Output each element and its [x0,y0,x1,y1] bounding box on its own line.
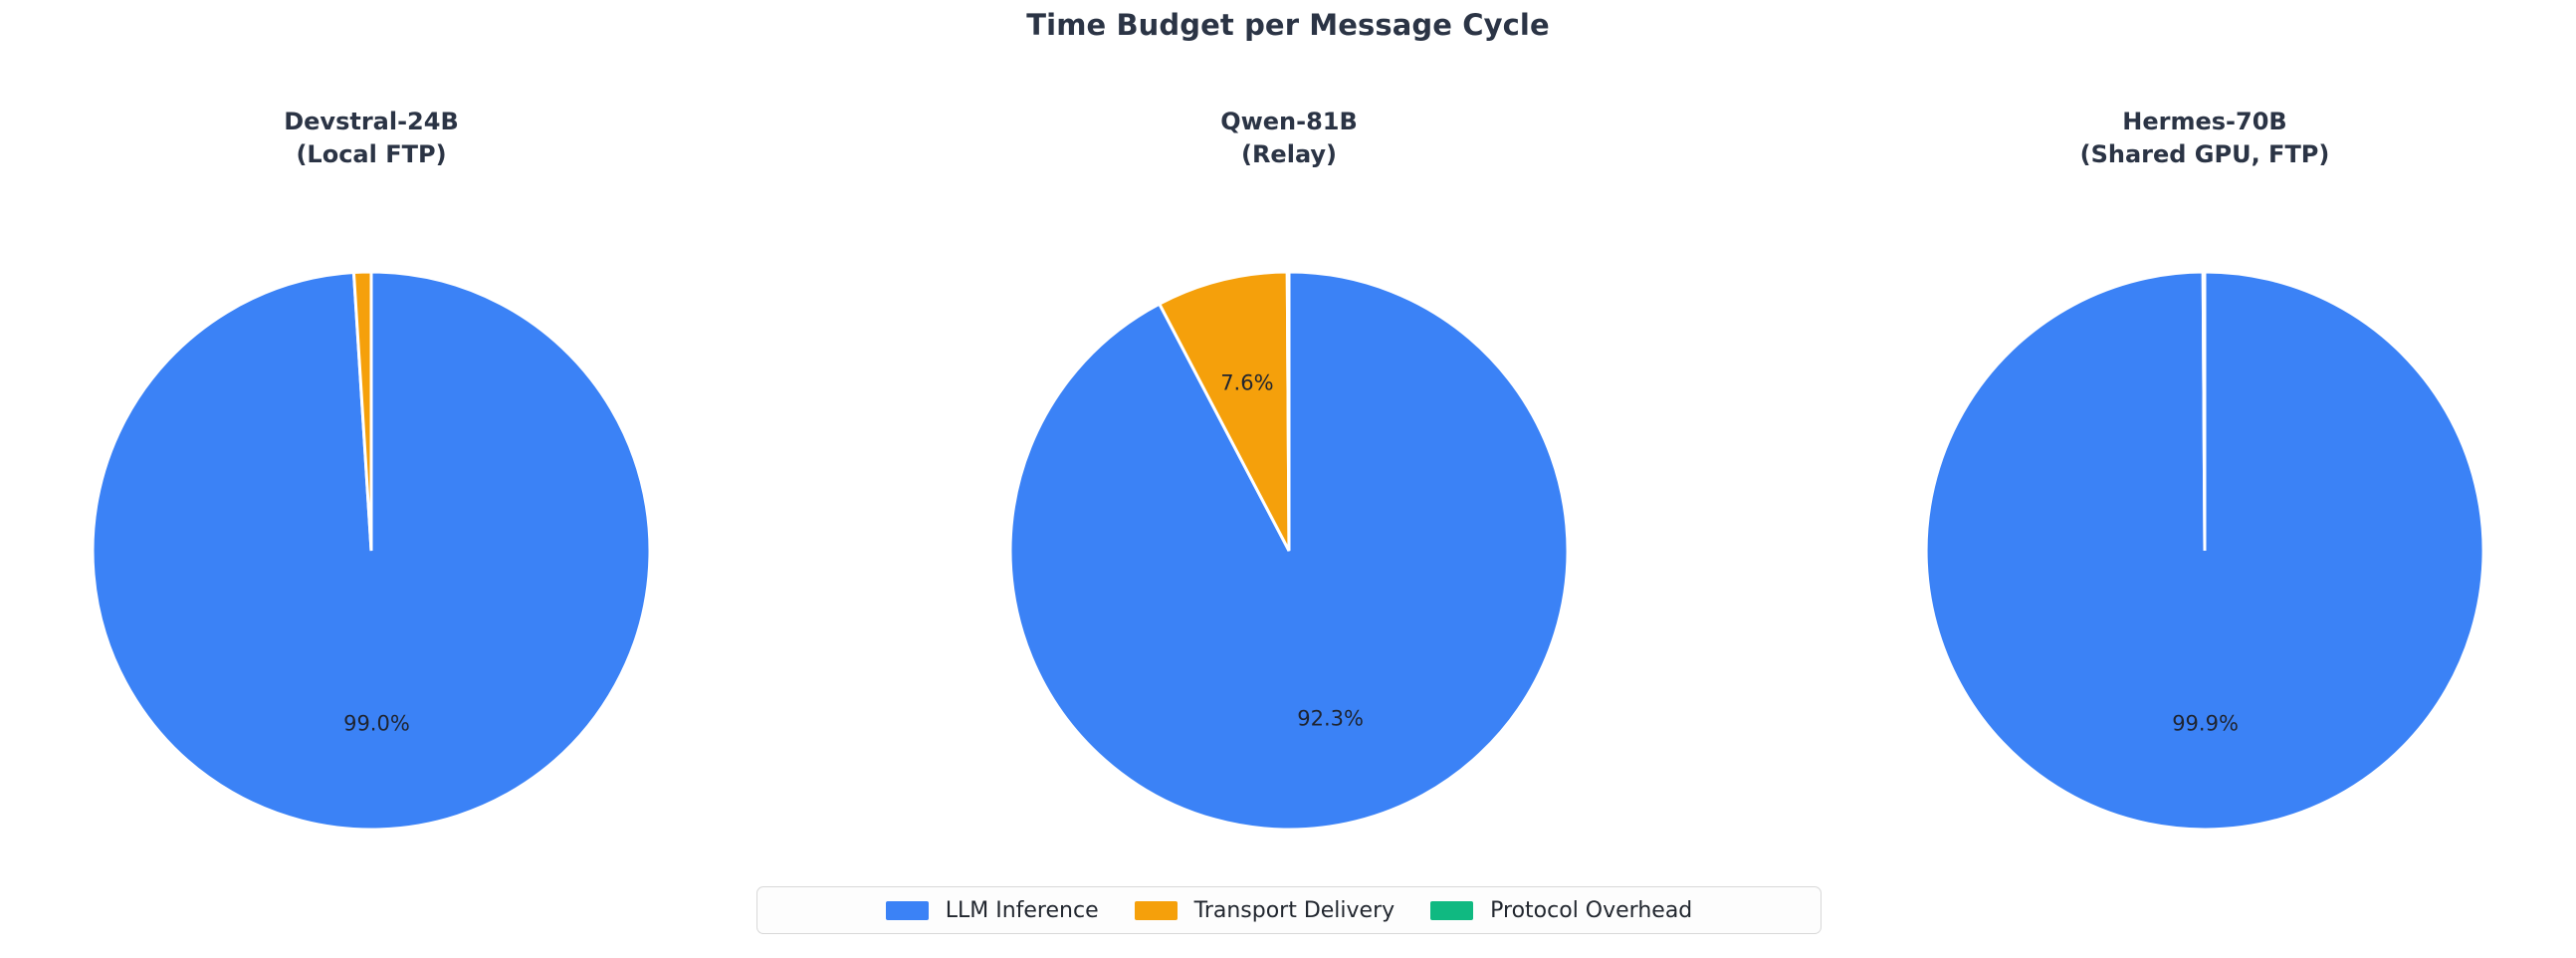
legend-item[interactable]: Transport Delivery [1135,898,1395,923]
pie-panel-title: Qwen-81B (Relay) [860,106,1718,171]
legend-item[interactable]: LLM Inference [886,898,1099,923]
pie-slice-label: 92.3% [1297,707,1364,731]
legend-label: Transport Delivery [1194,898,1395,923]
pie-panel-hermes-70b: Hermes-70B (Shared GPU, FTP) 99.9% [1776,0,2576,876]
pie-slice-label: 99.9% [2172,712,2239,736]
chart-legend: LLM InferenceTransport DeliveryProtocol … [756,886,1822,934]
legend-label: Protocol Overhead [1490,898,1692,923]
legend-swatch-llm-inference [886,901,929,920]
pie-svg: 92.3%7.6% [1009,271,1569,831]
pie-panel-title: Hermes-70B (Shared GPU, FTP) [1776,106,2576,171]
pie-chart-devstral-24b: 99.0% [92,271,651,831]
legend-swatch-transport-delivery [1135,901,1178,920]
pie-chart-hermes-70b: 99.9% [1925,271,2484,831]
legend-label: LLM Inference [946,898,1099,923]
legend-swatch-protocol-overhead [1430,901,1473,920]
pie-svg: 99.9% [1925,271,2484,831]
pie-svg: 99.0% [92,271,651,831]
legend-item[interactable]: Protocol Overhead [1430,898,1692,923]
pie-chart-qwen-81b: 92.3%7.6% [1009,271,1569,831]
pie-panel-devstral-24b: Devstral-24B (Local FTP) 99.0% [0,0,800,876]
pie-slice[interactable] [1287,272,1289,551]
pie-slice-label: 99.0% [343,712,410,736]
pie-slice-label: 7.6% [1220,371,1273,395]
pie-panel-qwen-81b: Qwen-81B (Relay) 92.3%7.6% [860,0,1718,876]
pie-slice[interactable] [2203,272,2205,551]
pie-panel-title: Devstral-24B (Local FTP) [0,106,800,171]
